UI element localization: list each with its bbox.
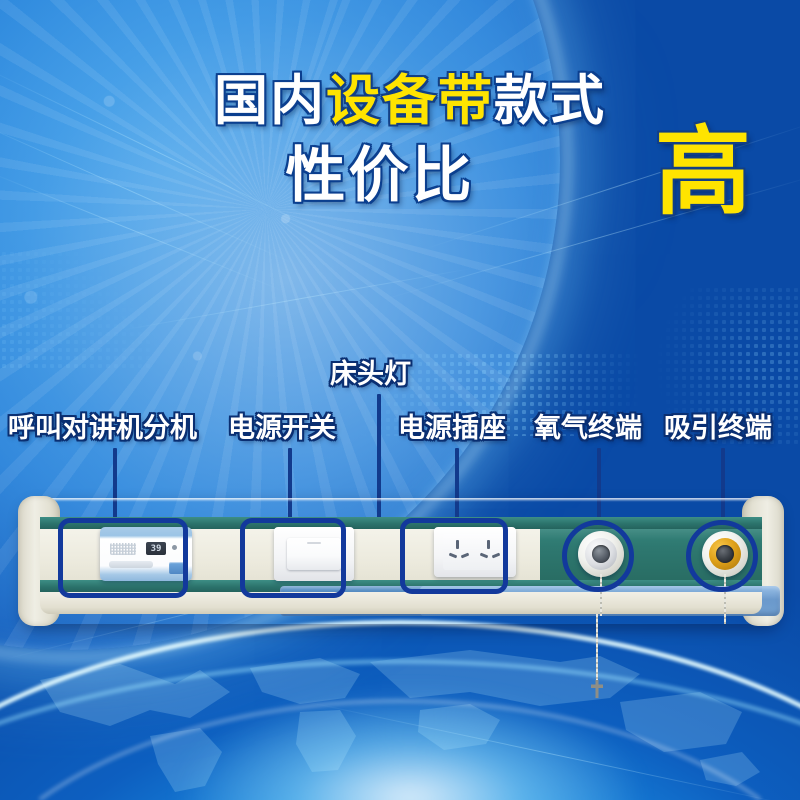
highlight-box-intercom (58, 518, 188, 598)
promo-banner: 国内设备带款式 性价比 高 呼叫对讲机分机 电源开关 床头灯 电源插座 氧气终端… (0, 0, 800, 800)
hanging-pull-cord[interactable] (596, 614, 598, 684)
callout-label-suction: 吸引终端 (664, 414, 772, 444)
callout-label-intercom: 呼叫对讲机分机 (8, 414, 197, 444)
highlight-box-power-socket (400, 518, 508, 594)
highlight-circle-suction (686, 520, 758, 592)
highlight-circle-oxygen (562, 520, 634, 592)
pull-cord-pendant-icon[interactable] (591, 680, 603, 698)
highlight-box-power-switch (240, 518, 346, 598)
callout-label-power-switch: 电源开关 (228, 414, 336, 444)
callout-layer: 呼叫对讲机分机 电源开关 床头灯 电源插座 氧气终端 吸引终端 (0, 0, 800, 800)
callout-label-bed-lamp: 床头灯 (330, 360, 411, 390)
callout-label-oxygen: 氧气终端 (534, 414, 642, 444)
callout-label-power-socket: 电源插座 (398, 414, 506, 444)
